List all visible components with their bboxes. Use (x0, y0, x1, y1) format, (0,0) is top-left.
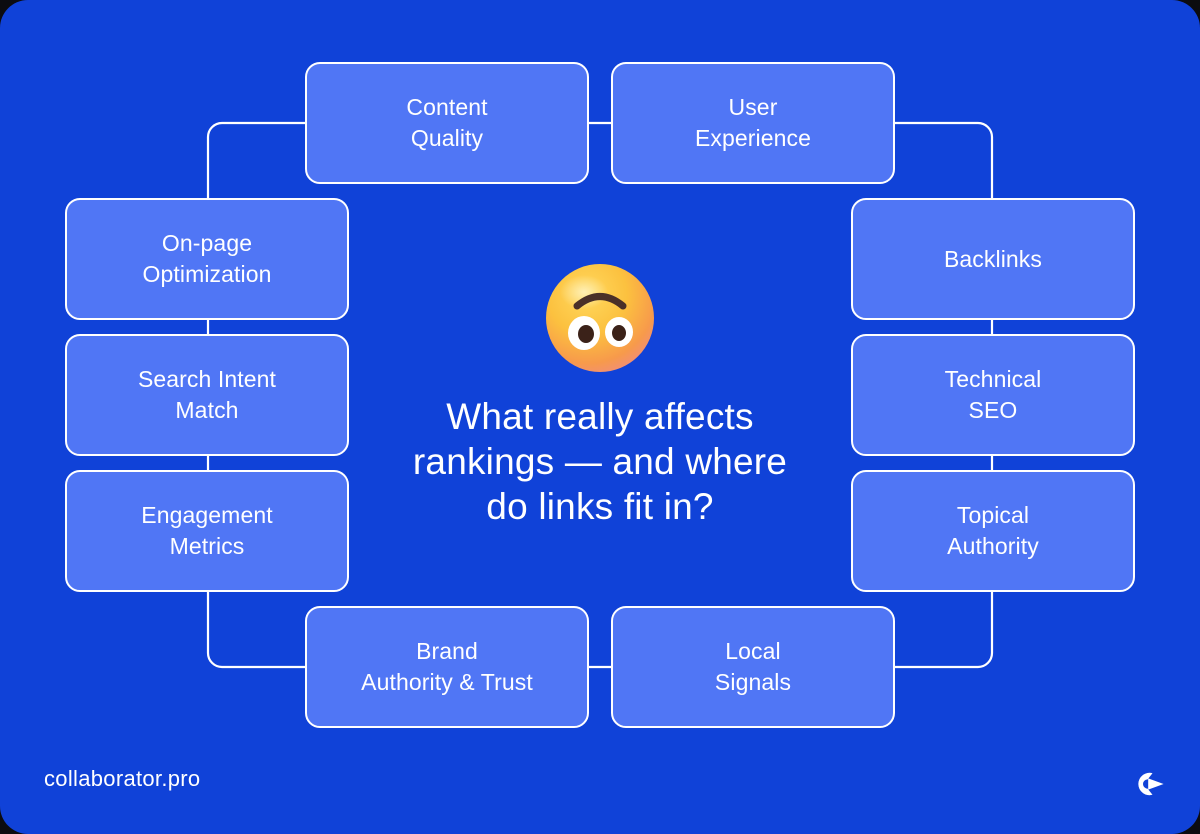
connector-bottom-right-elbow (895, 592, 992, 667)
node-label: Content Quality (406, 92, 487, 153)
node-label: Brand Authority & Trust (361, 636, 533, 697)
node-label: Local Signals (715, 636, 791, 697)
node-backlinks[interactable]: Backlinks (851, 198, 1135, 320)
node-label: User Experience (695, 92, 811, 153)
site-url[interactable]: collaborator.pro (44, 766, 200, 792)
infographic-canvas: Content Quality User Experience On-page … (0, 0, 1200, 834)
node-user-experience[interactable]: User Experience (611, 62, 895, 184)
node-label: Search Intent Match (138, 364, 276, 425)
connector-top-left-elbow (208, 123, 305, 198)
node-topical-authority[interactable]: Topical Authority (851, 470, 1135, 592)
node-label: Topical Authority (947, 500, 1039, 561)
node-label: Technical SEO (945, 364, 1042, 425)
collaborator-logo[interactable] (1128, 762, 1172, 806)
center-content: What really affects rankings — and where… (380, 262, 820, 529)
node-content-quality[interactable]: Content Quality (305, 62, 589, 184)
connector-bottom-left-elbow (208, 592, 305, 667)
headline: What really affects rankings — and where… (413, 394, 787, 529)
node-local-signals[interactable]: Local Signals (611, 606, 895, 728)
node-engagement-metrics[interactable]: Engagement Metrics (65, 470, 349, 592)
connector-top-right-elbow (895, 123, 992, 198)
node-label: Engagement Metrics (141, 500, 272, 561)
node-label: Backlinks (944, 244, 1042, 275)
upside-down-face-icon (544, 262, 656, 374)
node-search-intent-match[interactable]: Search Intent Match (65, 334, 349, 456)
node-technical-seo[interactable]: Technical SEO (851, 334, 1135, 456)
node-brand-authority-trust[interactable]: Brand Authority & Trust (305, 606, 589, 728)
node-label: On-page Optimization (142, 228, 271, 289)
node-on-page-optimization[interactable]: On-page Optimization (65, 198, 349, 320)
